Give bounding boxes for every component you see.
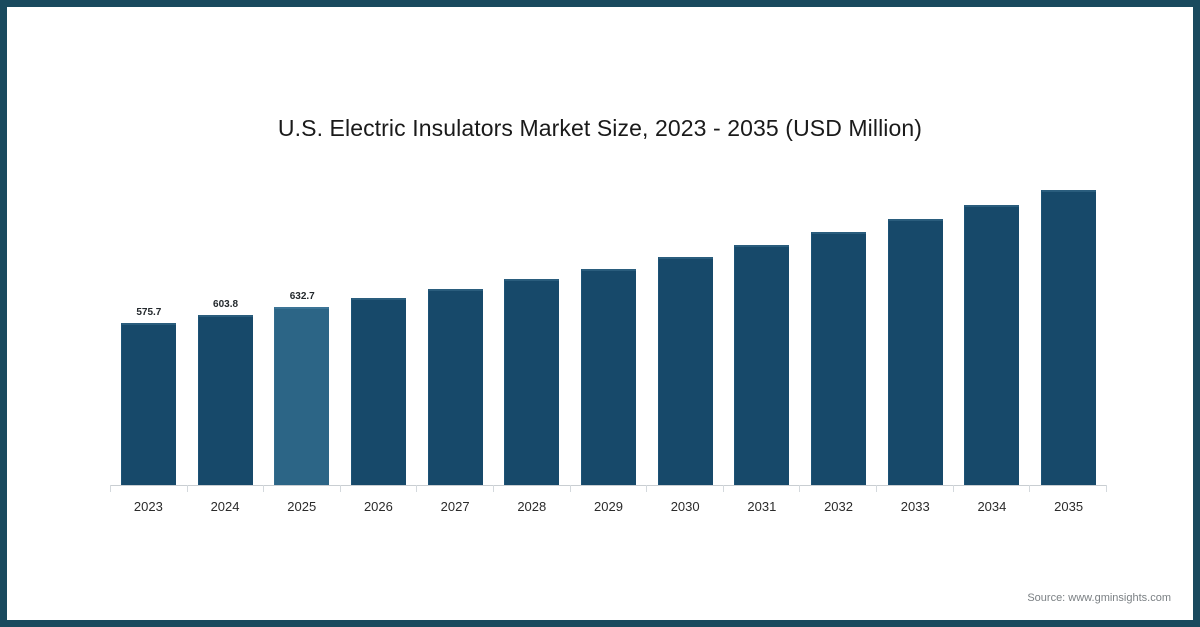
bar[interactable]: [734, 245, 789, 485]
chart-frame: U.S. Electric Insulators Market Size, 20…: [0, 0, 1200, 627]
bar[interactable]: 575.7: [121, 323, 176, 485]
bar-slot: [800, 157, 877, 485]
bar-slot: [877, 157, 954, 485]
bar-slot: [417, 157, 494, 485]
bar[interactable]: [811, 232, 866, 485]
bar[interactable]: [428, 289, 483, 485]
bar-value-label: 632.7: [290, 291, 315, 302]
bar[interactable]: [581, 269, 636, 486]
bar-slot: 603.8: [187, 157, 264, 485]
bar[interactable]: [658, 257, 713, 485]
bar[interactable]: [964, 205, 1019, 485]
x-axis-tick: [493, 485, 494, 492]
x-axis-label: 2026: [340, 499, 417, 514]
x-axis-tick: [263, 485, 264, 492]
x-axis-label: 2032: [800, 499, 877, 514]
bar-series: 575.7603.8632.7: [110, 157, 1107, 485]
x-axis-label: 2035: [1030, 499, 1107, 514]
x-axis-tick: [1106, 485, 1107, 492]
bar[interactable]: 632.7: [274, 307, 329, 485]
x-axis-tick: [1029, 485, 1030, 492]
bar-slot: [724, 157, 801, 485]
bar[interactable]: 603.8: [198, 315, 253, 485]
bar-slot: 575.7: [110, 157, 187, 485]
x-axis-label: 2027: [417, 499, 494, 514]
x-axis-label: 2031: [724, 499, 801, 514]
bar-slot: [493, 157, 570, 485]
bar-value-label: 575.7: [136, 307, 161, 318]
x-axis-tick: [187, 485, 188, 492]
x-axis-label: 2029: [570, 499, 647, 514]
x-axis-label: 2024: [187, 499, 264, 514]
chart-title: U.S. Electric Insulators Market Size, 20…: [7, 115, 1193, 142]
bar[interactable]: [504, 279, 559, 485]
bar-value-label: 603.8: [213, 299, 238, 310]
bar-slot: [954, 157, 1031, 485]
x-axis-label: 2030: [647, 499, 724, 514]
x-axis-labels: 2023202420252026202720282029203020312032…: [110, 499, 1107, 514]
x-axis-tick: [416, 485, 417, 492]
x-axis-label: 2023: [110, 499, 187, 514]
bar[interactable]: [888, 219, 943, 485]
bar-slot: [570, 157, 647, 485]
x-axis-label: 2025: [263, 499, 340, 514]
plot-area: 575.7603.8632.7: [110, 157, 1107, 485]
bar-slot: [340, 157, 417, 485]
x-axis-tick: [723, 485, 724, 492]
x-axis-tick: [646, 485, 647, 492]
x-axis-label: 2033: [877, 499, 954, 514]
x-axis-label: 2034: [954, 499, 1031, 514]
bar[interactable]: [351, 298, 406, 485]
x-axis-tick: [799, 485, 800, 492]
x-axis-tick: [953, 485, 954, 492]
bar[interactable]: [1041, 190, 1096, 485]
x-axis-tick: [110, 485, 111, 492]
source-attribution: Source: www.gminsights.com: [1027, 592, 1171, 604]
x-axis-tick: [340, 485, 341, 492]
bar-slot: [647, 157, 724, 485]
x-axis-label: 2028: [493, 499, 570, 514]
x-axis-tick: [570, 485, 571, 492]
x-axis-ticks: [110, 485, 1107, 492]
x-axis-tick: [876, 485, 877, 492]
bar-slot: 632.7: [263, 157, 340, 485]
bar-slot: [1030, 157, 1107, 485]
